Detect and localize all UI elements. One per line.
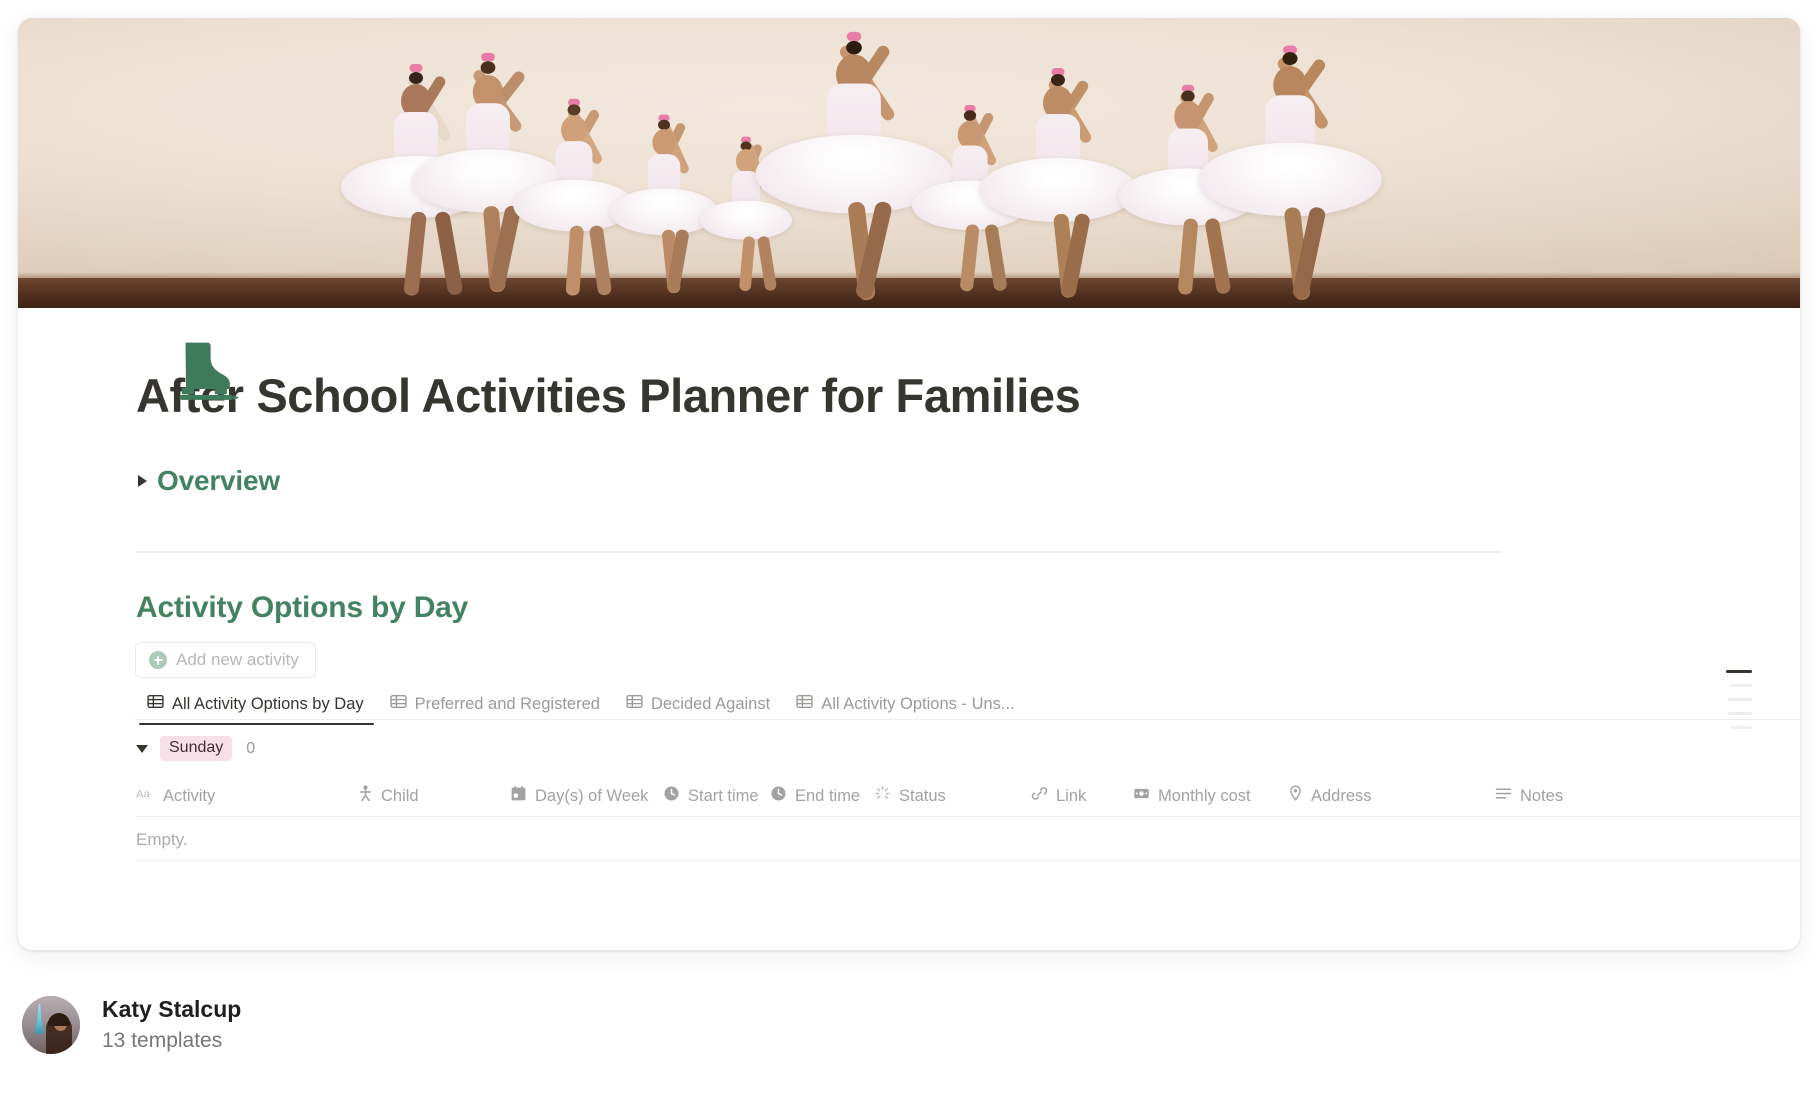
- column-header-monthly-cost[interactable]: Monthly cost: [1133, 776, 1251, 816]
- page-root: After School Activities Planner for Fami…: [0, 0, 1820, 1120]
- group-count: 0: [246, 740, 255, 758]
- caret-down-icon[interactable]: [136, 745, 148, 753]
- add-new-activity-button[interactable]: Add new activity: [135, 642, 316, 678]
- table-empty-row: Empty.: [136, 820, 188, 860]
- table-icon: [390, 693, 407, 715]
- column-label: Status: [899, 787, 946, 806]
- author-footer[interactable]: Katy Stalcup 13 templates: [22, 995, 241, 1054]
- toc-line[interactable]: [1728, 712, 1752, 715]
- column-header-notes[interactable]: Notes: [1495, 776, 1563, 816]
- tab-label: All Activity Options by Day: [172, 695, 364, 714]
- clock-icon: [770, 785, 787, 807]
- loading-spoke-icon: [874, 785, 891, 807]
- column-header-link[interactable]: Link: [1031, 776, 1086, 816]
- column-header-end-time[interactable]: End time: [770, 776, 860, 816]
- section-divider: [136, 551, 1501, 553]
- column-label: Day(s) of Week: [535, 787, 648, 806]
- avatar: [22, 996, 80, 1054]
- column-label: End time: [795, 787, 860, 806]
- svg-text:Aa: Aa: [136, 788, 150, 800]
- table-of-contents-rail[interactable]: [1722, 670, 1752, 729]
- column-label: Child: [381, 787, 419, 806]
- column-label: Start time: [688, 787, 759, 806]
- toc-line[interactable]: [1730, 726, 1752, 729]
- tab-label: All Activity Options - Uns...: [821, 695, 1014, 714]
- column-header-status[interactable]: Status: [874, 776, 946, 816]
- toc-line[interactable]: [1730, 684, 1752, 687]
- table-icon: [796, 693, 813, 715]
- map-pin-icon: [1288, 785, 1303, 807]
- link-icon: [1031, 785, 1048, 807]
- plus-circle-icon: [149, 651, 167, 669]
- person-icon: [358, 785, 373, 807]
- column-header-address[interactable]: Address: [1288, 776, 1372, 816]
- money-icon: [1133, 785, 1150, 807]
- cover-image: [18, 18, 1800, 308]
- table-icon: [626, 693, 643, 715]
- caret-right-icon[interactable]: [138, 475, 147, 487]
- column-label: Address: [1311, 787, 1372, 806]
- status-badge: Sunday: [160, 736, 232, 761]
- overview-toggle[interactable]: Overview: [138, 465, 280, 497]
- tab-label: Decided Against: [651, 695, 770, 714]
- author-template-count: 13 templates: [102, 1027, 241, 1054]
- tabs-underline: [135, 719, 1800, 720]
- table-icon: [147, 693, 164, 715]
- toc-line[interactable]: [1728, 698, 1752, 701]
- column-header-activity[interactable]: Aa Activity: [136, 776, 215, 816]
- text-lines-icon: [1495, 786, 1512, 806]
- table-header-row: Aa Activity Ch: [18, 776, 1800, 816]
- author-text: Katy Stalcup 13 templates: [102, 995, 241, 1054]
- overview-toggle-label: Overview: [157, 465, 280, 497]
- toc-line[interactable]: [1726, 670, 1752, 673]
- add-new-activity-label: Add new activity: [176, 650, 299, 670]
- template-preview-card: After School Activities Planner for Fami…: [18, 18, 1800, 950]
- column-label: Monthly cost: [1158, 787, 1251, 806]
- column-header-child[interactable]: Child: [358, 776, 419, 816]
- cover-dancers-group: [18, 18, 1800, 308]
- text-aa-icon: Aa: [136, 786, 155, 806]
- column-header-days-of-week[interactable]: Day(s) of Week: [510, 776, 648, 816]
- table-empty-rule: [136, 860, 1800, 861]
- author-name: Katy Stalcup: [102, 995, 241, 1024]
- calendar-icon: [510, 785, 527, 807]
- table-header-rule: [136, 816, 1800, 817]
- group-header-sunday[interactable]: Sunday 0: [136, 736, 255, 761]
- column-header-start-time[interactable]: Start time: [663, 776, 759, 816]
- column-label: Link: [1056, 787, 1086, 806]
- column-label: Activity: [163, 787, 215, 806]
- section-title: Activity Options by Day: [136, 591, 468, 625]
- tab-label: Preferred and Registered: [415, 695, 600, 714]
- column-label: Notes: [1520, 787, 1563, 806]
- ice-skate-icon: [166, 328, 244, 406]
- clock-icon: [663, 785, 680, 807]
- page-content: After School Activities Planner for Fami…: [18, 308, 1800, 950]
- page-title: After School Activities Planner for Fami…: [136, 370, 1080, 422]
